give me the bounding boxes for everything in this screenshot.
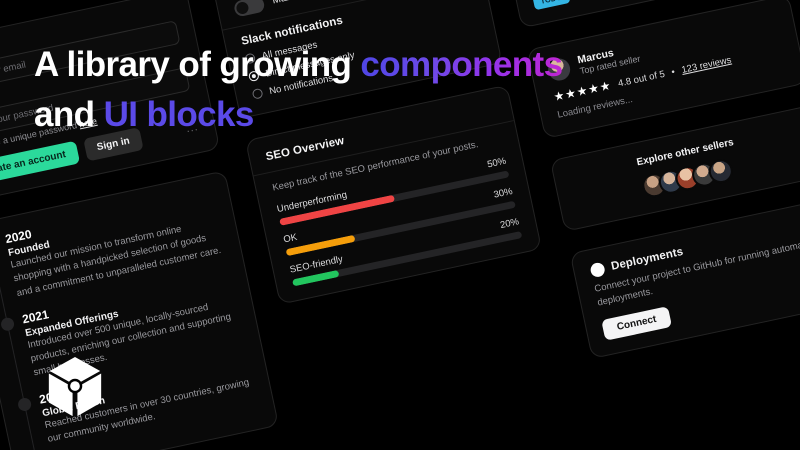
status-badge: TODO [532, 0, 570, 10]
radio-icon[interactable] [252, 88, 264, 100]
rating-text: 4.8 out of 5 [617, 68, 666, 89]
password-hint-link[interactable]: here [78, 116, 98, 130]
timeline-card: 2020 Founded Launched our mission to tra… [0, 170, 279, 450]
rating-separator: • [670, 66, 676, 77]
radio-icon[interactable] [244, 53, 256, 65]
timeline-dot-icon [0, 316, 15, 331]
login-card: Email Enter your email Password Enter yo… [0, 0, 220, 204]
sign-in-button[interactable]: Sign in [83, 127, 144, 161]
login-overflow-icon[interactable]: ... [185, 120, 199, 134]
timeline-dot-icon [17, 396, 32, 411]
github-icon [589, 262, 606, 279]
seo-overview-card: SEO Overview Keep track of the SEO perfo… [245, 84, 542, 304]
seo-item-value: 50% [486, 155, 507, 170]
toggle-switch-icon[interactable] [233, 0, 266, 17]
create-account-button[interactable]: Create an account [0, 141, 80, 187]
seo-item-value: 30% [493, 186, 514, 201]
settings-overflow-icon[interactable]: ... [457, 0, 471, 1]
cube-logo [44, 354, 106, 420]
tilted-card-mosaic: Email Enter your email Password Enter yo… [0, 0, 800, 450]
avatar [546, 56, 572, 82]
connect-button[interactable]: Connect [601, 306, 672, 341]
radio-icon-selected[interactable] [248, 70, 260, 82]
hero-screenshot: Email Enter your email Password Enter yo… [0, 0, 800, 450]
login-button-row: Create an account Sign in ... [0, 115, 200, 186]
reviews-link[interactable]: 123 reviews [680, 54, 732, 75]
timeline-list: 2020 Founded Launched our mission to tra… [0, 188, 257, 450]
seo-item-label: OK [282, 232, 298, 246]
seo-item-value: 20% [499, 216, 520, 231]
